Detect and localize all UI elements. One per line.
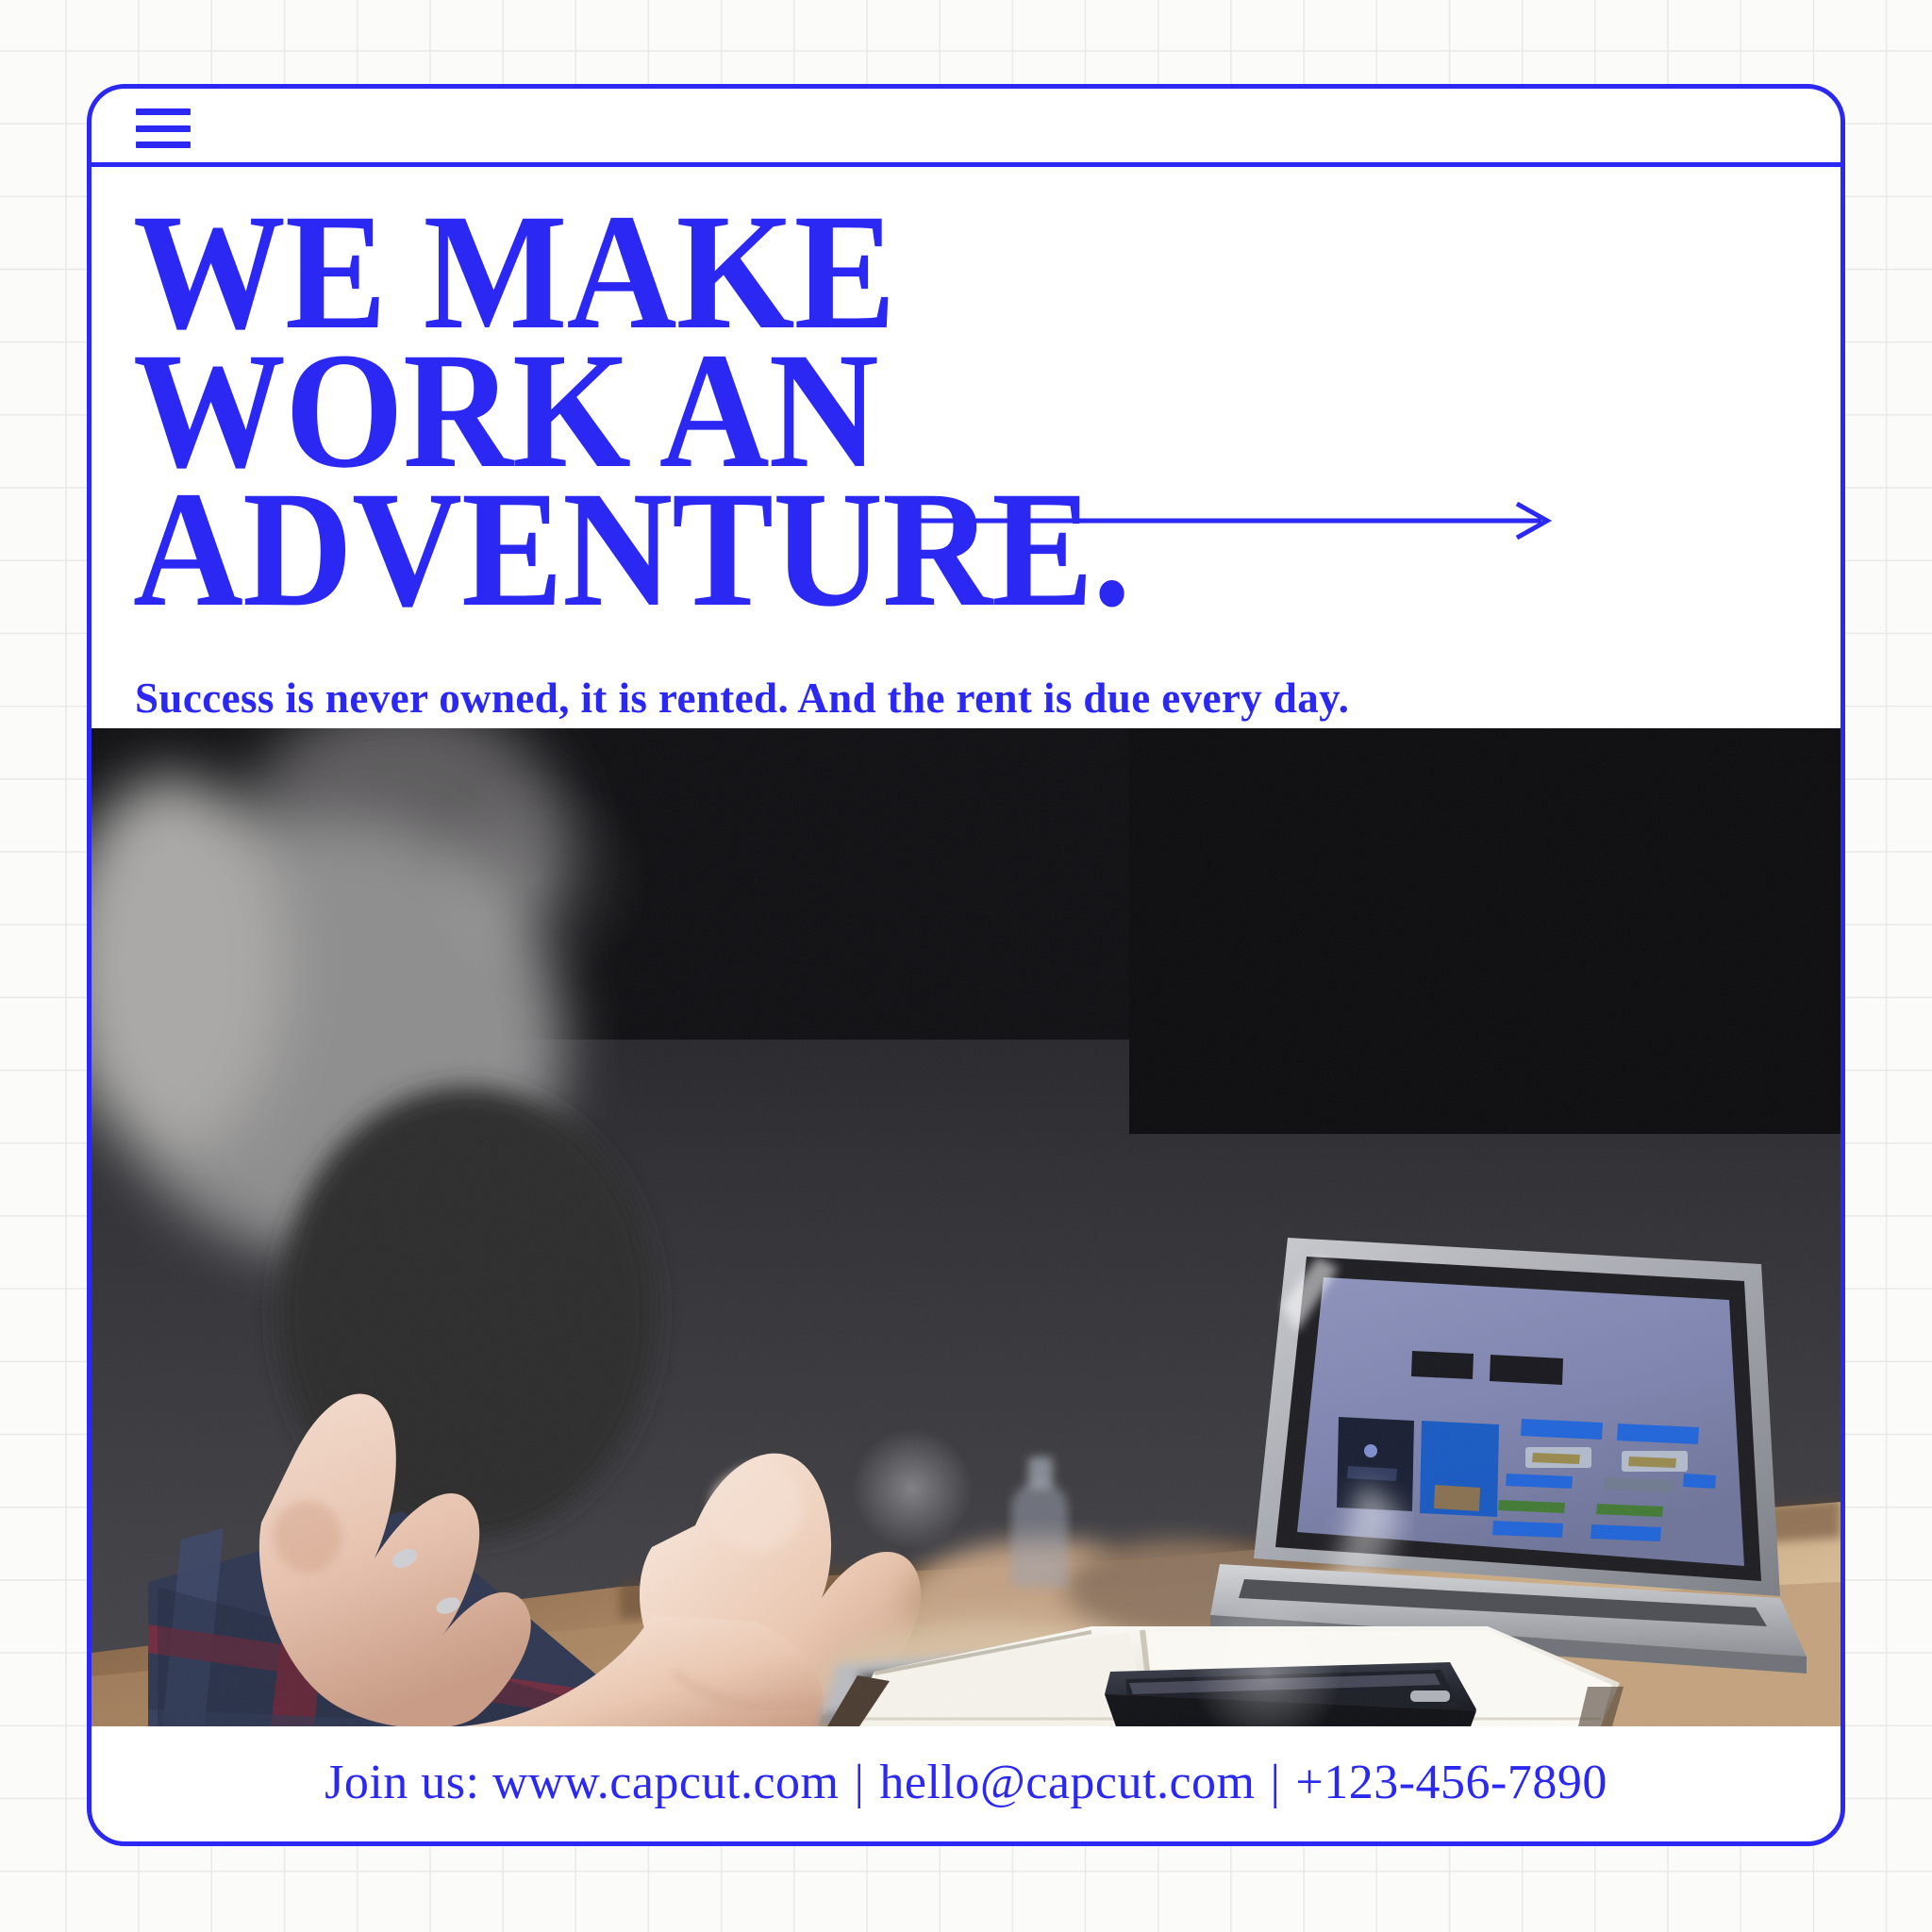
poster-card: WE MAKEWORK ANADVENTURE. Success is neve… bbox=[87, 84, 1845, 1846]
hamburger-menu-icon[interactable] bbox=[136, 108, 191, 148]
footer-email-link[interactable]: hello@capcut.com bbox=[879, 1756, 1255, 1809]
hamburger-bar-1 bbox=[136, 108, 191, 115]
footer-join-prefix: Join us: bbox=[325, 1756, 492, 1809]
hero-photo bbox=[92, 728, 1840, 1726]
footer-separator-1: | bbox=[839, 1756, 879, 1809]
arrow-right-icon[interactable] bbox=[917, 502, 1558, 540]
footer-phone-link[interactable]: +123-456-7890 bbox=[1295, 1756, 1607, 1809]
poster-page: WE MAKEWORK ANADVENTURE. Success is neve… bbox=[0, 0, 1932, 1932]
page-title: WE MAKEWORK ANADVENTURE. bbox=[133, 203, 1704, 619]
hero-tagline: Success is never owned, it is rented. An… bbox=[135, 674, 1349, 723]
footer-contact-line: Join us: www.capcut.com|hello@capcut.com… bbox=[325, 1755, 1607, 1810]
hero-section: WE MAKEWORK ANADVENTURE. Success is neve… bbox=[92, 167, 1840, 749]
meeting-photo-illustration bbox=[92, 728, 1840, 1726]
hamburger-bar-3 bbox=[136, 142, 191, 148]
footer-separator-2: | bbox=[1255, 1756, 1295, 1809]
hamburger-bar-2 bbox=[136, 125, 191, 132]
footer-website-link[interactable]: www.capcut.com bbox=[492, 1756, 840, 1809]
top-bar bbox=[92, 89, 1840, 167]
footer: Join us: www.capcut.com|hello@capcut.com… bbox=[92, 1726, 1840, 1838]
